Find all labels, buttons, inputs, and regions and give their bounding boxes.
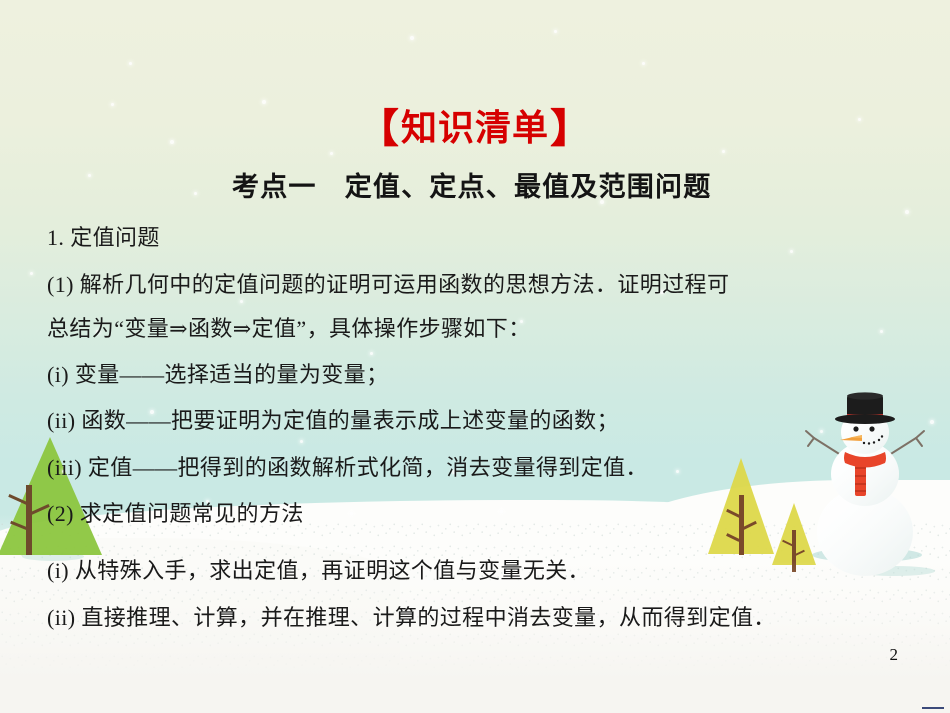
body-line: (i) 从特殊入手，求出定值，再证明这个值与变量无关．: [47, 553, 590, 585]
body-line: 1. 定值问题: [47, 220, 160, 252]
body-line: (i) 变量——选择适当的量为变量；: [47, 357, 388, 389]
section-heading: 考点一 定值、定点、最值及范围问题: [232, 165, 711, 204]
bracket-right-icon: 】: [550, 96, 593, 154]
page-title: 【知识清单】: [0, 96, 950, 154]
slide-content: 【知识清单】 考点一 定值、定点、最值及范围问题 1. 定值问题 (1) 解析几…: [0, 0, 950, 713]
body-line: (1) 解析几何中的定值问题的证明可运用函数的思想方法．证明过程可: [47, 267, 729, 299]
page-title-text: 知识清单: [399, 107, 551, 149]
page-number: 2: [890, 645, 899, 665]
body-line: (ii) 直接推理、计算，并在推理、计算的过程中消去变量，从而得到定值．: [47, 600, 776, 632]
slide-canvas: 【知识清单】 考点一 定值、定点、最值及范围问题 1. 定值问题 (1) 解析几…: [0, 0, 950, 713]
body-line: 总结为“变量⇒函数⇒定值”，具体操作步骤如下：: [47, 311, 531, 343]
corner-marker: [922, 707, 944, 709]
body-line: (iii) 定值——把得到的函数解析式化简，消去变量得到定值．: [47, 450, 648, 482]
bracket-left-icon: 【: [357, 96, 400, 154]
body-line: (ii) 函数——把要证明为定值的量表示成上述变量的函数；: [47, 403, 619, 435]
body-line: (2) 求定值问题常见的方法: [47, 496, 304, 528]
